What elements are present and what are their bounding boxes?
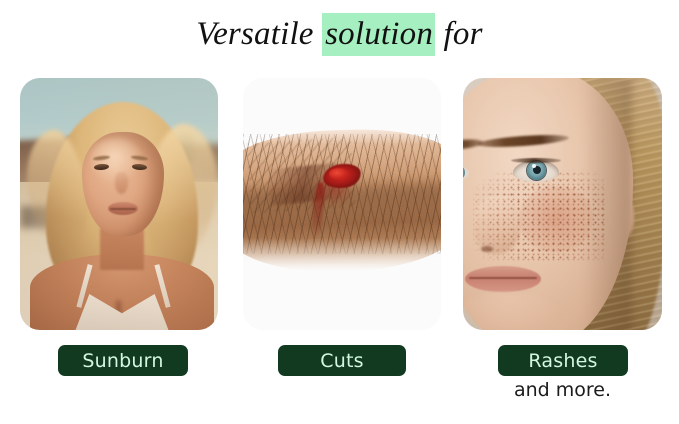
top-fade-overlay: [243, 118, 441, 144]
headline-text-after: for: [435, 16, 483, 52]
badge-rashes: Rashes: [498, 345, 628, 376]
side-shadow: [562, 78, 632, 330]
lips: [465, 266, 541, 292]
sunburned-woman-beach-photo: [20, 78, 218, 330]
and-more-label: and more.: [463, 379, 662, 401]
lip-line: [110, 208, 136, 210]
badge-cuts: Cuts: [278, 345, 406, 376]
wound-highlight: [329, 168, 349, 180]
headline-highlight: solution: [322, 13, 435, 56]
iris-far: [463, 165, 465, 180]
nostril: [481, 246, 493, 252]
cut-forearm-wound-photo: [243, 78, 441, 330]
badge-sunburn: Sunburn: [58, 345, 188, 376]
nose: [115, 172, 128, 194]
headline-text-before: Versatile: [196, 16, 322, 52]
bottom-fade-overlay: [243, 238, 441, 280]
eye-glint: [532, 164, 536, 168]
freckled-face-rash-photo: [463, 78, 662, 330]
image-card-cuts: [243, 78, 441, 330]
page-title: Versatile solution for: [0, 14, 679, 54]
nose: [473, 196, 521, 254]
eye-near: [513, 160, 559, 182]
image-card-sunburn: [20, 78, 218, 330]
image-card-rashes: [463, 78, 662, 330]
lip-line: [469, 277, 537, 279]
promo-banner: Versatile solution for: [0, 0, 679, 424]
eyelashes: [511, 158, 561, 163]
